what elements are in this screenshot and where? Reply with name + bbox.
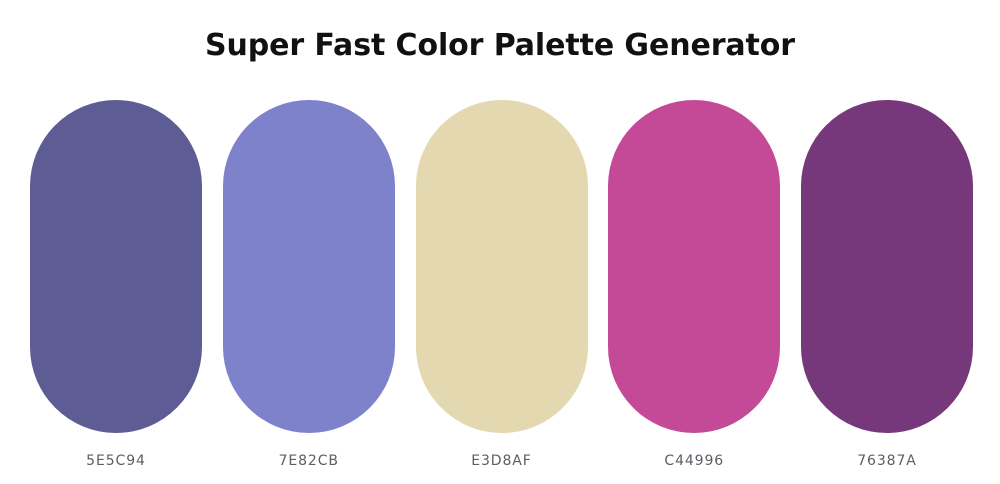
swatch-color-chip[interactable] (801, 100, 973, 433)
palette-swatch-2[interactable]: 7E82CB (223, 100, 395, 470)
swatch-color-chip[interactable] (608, 100, 780, 433)
swatch-color-chip[interactable] (223, 100, 395, 433)
swatch-hex-label: 76387A (857, 452, 917, 470)
color-palette-generator: Super Fast Color Palette Generator 5E5C9… (0, 0, 1000, 484)
swatch-color-chip[interactable] (30, 100, 202, 433)
swatch-hex-label: 5E5C94 (86, 452, 146, 470)
swatch-color-chip[interactable] (416, 100, 588, 433)
swatch-hex-label: E3D8AF (471, 452, 531, 470)
palette-swatch-3[interactable]: E3D8AF (416, 100, 588, 470)
palette-swatch-row: 5E5C94 7E82CB E3D8AF C44996 76387A (30, 100, 973, 484)
swatch-hex-label: C44996 (664, 452, 724, 470)
page-title: Super Fast Color Palette Generator (0, 26, 1000, 66)
palette-swatch-1[interactable]: 5E5C94 (30, 100, 202, 470)
palette-swatch-4[interactable]: C44996 (608, 100, 780, 470)
palette-swatch-5[interactable]: 76387A (801, 100, 973, 470)
swatch-hex-label: 7E82CB (279, 452, 339, 470)
